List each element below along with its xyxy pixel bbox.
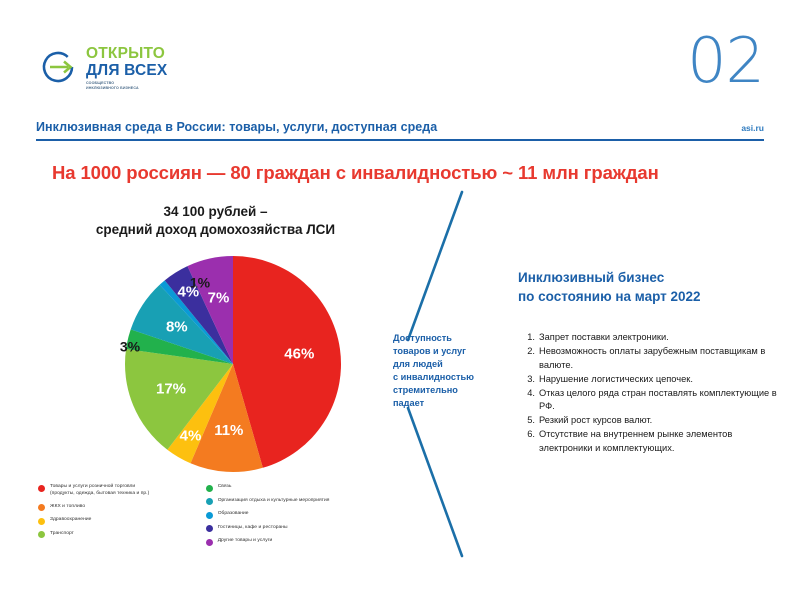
chart-title-line2: средний доход домохозяйства ЛСИ <box>58 221 373 239</box>
legend-item-label: Здравоохранение <box>50 516 91 523</box>
logo-subtitle: СООБЩЕСТВО ИНКЛЮЗИВНОГО БИЗНЕСА <box>86 81 167 91</box>
list-item-number: 4. <box>520 387 535 401</box>
pie-slice-label: 17% <box>156 380 186 397</box>
slide-header: Инклюзивная среда в России: товары, услу… <box>36 120 764 141</box>
legend-color-dot-icon <box>206 539 213 546</box>
list-item: 5.Резкий рост курсов валют. <box>520 414 782 428</box>
logo-line2: ДЛЯ ВСЕХ <box>86 63 167 79</box>
legend-item-label: Образование <box>218 510 249 517</box>
circle-arrow-right-icon <box>40 47 80 87</box>
legend-item-label: Транспорт <box>50 530 74 537</box>
right-panel-heading: Инклюзивный бизнес по состоянию на март … <box>518 268 778 306</box>
list-item: 3.Нарушение логистических цепочек. <box>520 373 782 387</box>
list-item-text: Отсутствие на внутреннем рынке элементов… <box>539 428 782 455</box>
page-number: 02 <box>687 30 764 92</box>
list-item-number: 3. <box>520 373 535 387</box>
legend-color-dot-icon <box>206 498 213 505</box>
pie-slice-label: 11% <box>214 422 243 439</box>
list-item: 4.Отказ целого ряда стран поставлять ком… <box>520 387 782 414</box>
legend-item: ЖКХ и топливо <box>38 503 196 512</box>
legend-item: Связь <box>206 483 388 492</box>
chart-title: 34 100 рублей – средний доход домохозяйс… <box>58 203 373 239</box>
list-item-text: Отказ целого ряда стран поставлять компл… <box>539 387 782 414</box>
legend-item: Организация отдыха и культурные мероприя… <box>206 497 388 506</box>
logo: ОТКРЫТО ДЛЯ ВСЕХ СООБЩЕСТВО ИНКЛЮЗИВНОГО… <box>40 46 167 91</box>
legend-item-label: Другие товары и услуги <box>218 537 273 544</box>
legend-item: Другие товары и услуги <box>206 537 388 546</box>
pie-slice-label: 3% <box>120 339 141 355</box>
pie-slice-label: 8% <box>166 319 188 336</box>
legend-color-dot-icon <box>206 512 213 519</box>
list-item-number: 1. <box>520 331 535 345</box>
legend-column-2: СвязьОрганизация отдыха и культурные мер… <box>206 483 388 546</box>
list-item-number: 5. <box>520 414 535 428</box>
pie-chart: 46%11%4%17%3%8%1%4%7% <box>78 252 388 477</box>
slide: ОТКРЫТО ДЛЯ ВСЕХ СООБЩЕСТВО ИНКЛЮЗИВНОГО… <box>0 0 800 600</box>
list-item-number: 6. <box>520 428 535 442</box>
logo-line1: ОТКРЫТО <box>86 46 167 62</box>
pie-slice-label: 4% <box>180 428 202 445</box>
list-item: 1.Запрет поставки электроники. <box>520 331 782 345</box>
chevron-caption: Доступность товаров и услуг для людей с … <box>393 332 503 410</box>
list-item: 2.Невозможность оплаты зарубежным постав… <box>520 345 782 372</box>
pie-slice-label: 46% <box>284 346 314 363</box>
pie-chart-svg: 46%11%4%17%3%8%1%4%7% <box>78 252 388 477</box>
legend-item: Здравоохранение <box>38 516 196 525</box>
list-item: 6.Отсутствие на внутреннем рынке элемент… <box>520 428 782 455</box>
legend-item-label: Товары и услуги розничной торговли (прод… <box>50 483 149 498</box>
legend-item-label: Гостиницы, кафе и рестораны <box>218 524 288 531</box>
legend-item: Товары и услуги розничной торговли (прод… <box>38 483 196 498</box>
header-site-link[interactable]: asi.ru <box>741 123 764 133</box>
right-panel-list: 1.Запрет поставки электроники.2.Невозмож… <box>520 331 782 456</box>
legend-color-dot-icon <box>38 531 45 538</box>
legend-color-dot-icon <box>206 525 213 532</box>
legend-item-label: ЖКХ и топливо <box>50 503 85 510</box>
legend-item-label: Организация отдыха и культурные мероприя… <box>218 497 330 504</box>
header-divider <box>36 139 764 141</box>
legend-item: Транспорт <box>38 530 196 539</box>
list-item-text: Нарушение логистических цепочек. <box>539 373 782 387</box>
list-item-number: 2. <box>520 345 535 359</box>
legend-color-dot-icon <box>38 485 45 492</box>
legend-color-dot-icon <box>38 518 45 525</box>
pie-slice-label: 7% <box>208 290 230 307</box>
pie-slice-label: 4% <box>177 284 199 301</box>
legend-item: Гостиницы, кафе и рестораны <box>206 524 388 533</box>
list-item-text: Невозможность оплаты зарубежным поставщи… <box>539 345 782 372</box>
legend-color-dot-icon <box>38 504 45 511</box>
chart-legend: Товары и услуги розничной торговли (прод… <box>38 483 388 546</box>
list-item-text: Запрет поставки электроники. <box>539 331 782 345</box>
legend-color-dot-icon <box>206 485 213 492</box>
legend-item: Образование <box>206 510 388 519</box>
legend-column-1: Товары и услуги розничной торговли (прод… <box>38 483 196 546</box>
legend-item-label: Связь <box>218 483 232 490</box>
headline: На 1000 россиян — 80 граждан с инвалидно… <box>52 162 752 184</box>
chart-title-line1: 34 100 рублей – <box>58 203 373 221</box>
list-item-text: Резкий рост курсов валют. <box>539 414 782 428</box>
header-title: Инклюзивная среда в России: товары, услу… <box>36 120 437 134</box>
